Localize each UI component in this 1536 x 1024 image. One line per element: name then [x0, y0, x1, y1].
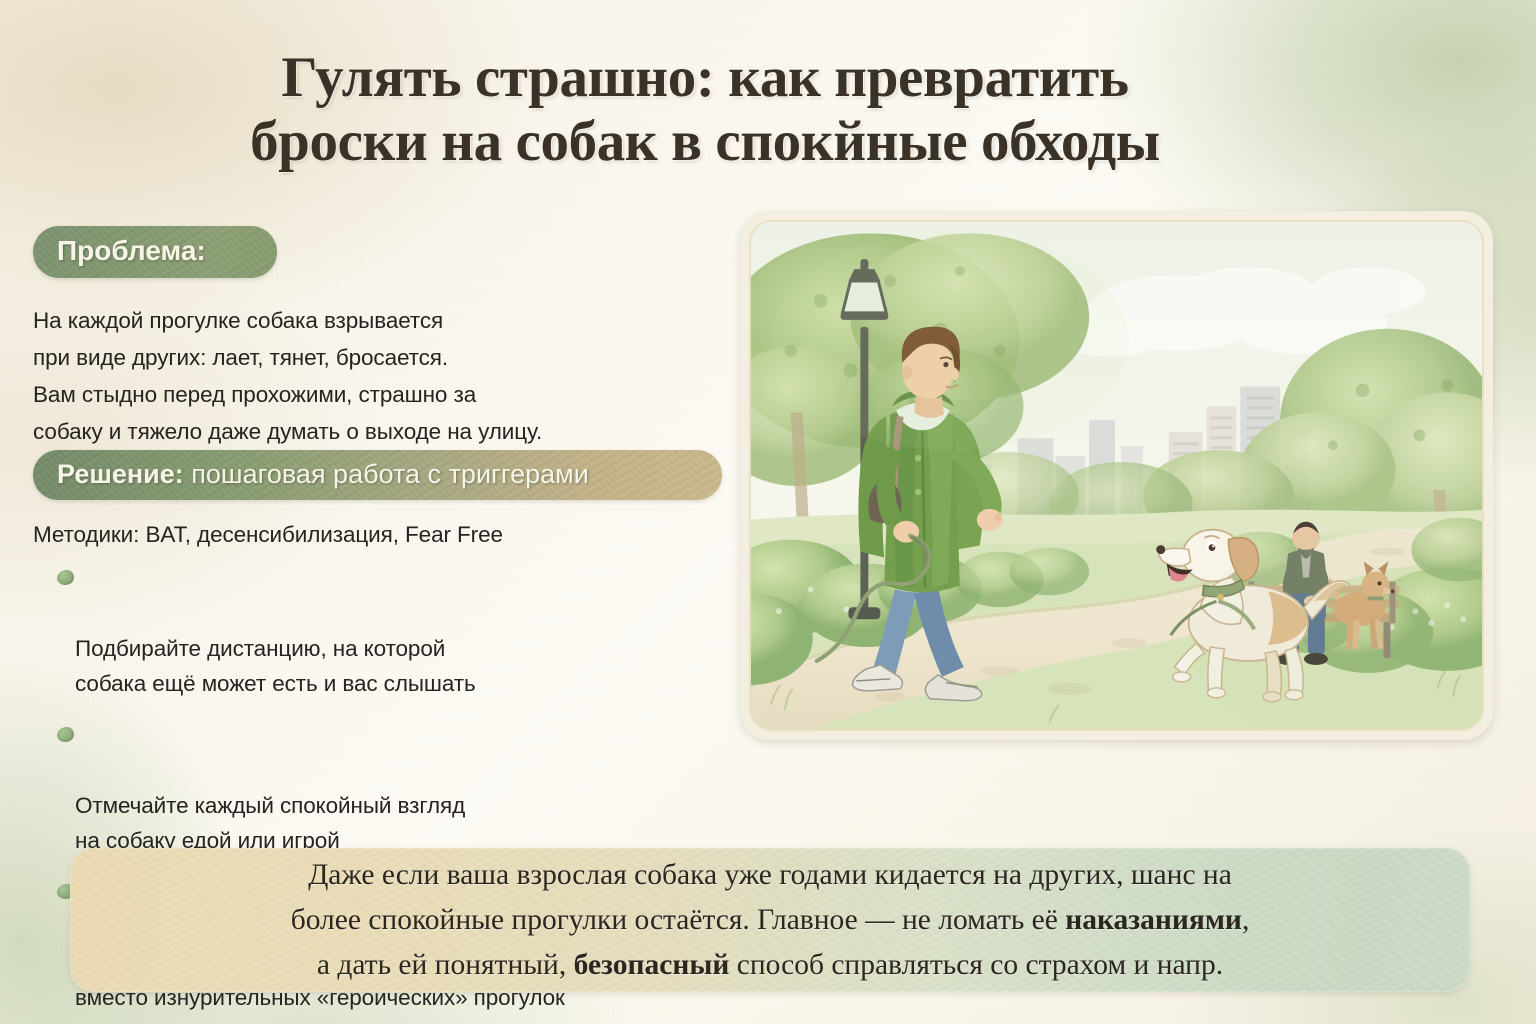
- footer-run: способ справляться со страхом и напр.: [729, 949, 1223, 981]
- problem-badge: Проблема:: [33, 226, 277, 278]
- park-scene-illustration: [749, 220, 1484, 731]
- solution-badge: Решение: пошаговая работа с триггерами: [33, 450, 722, 500]
- solution-badge-rest: пошаговая работа с триггерами: [184, 459, 589, 489]
- bullet-dot-icon: [57, 570, 74, 585]
- problem-badge-label: Проблема:: [57, 235, 206, 266]
- methods-line: Методики: BAT, десенсибилизация, Fear Fr…: [33, 519, 733, 551]
- park-scene-svg: [751, 222, 1482, 729]
- bullet-dot-icon: [57, 727, 74, 742]
- footer-emphasis: безопасный: [574, 949, 730, 981]
- list-item-text: Отмечайте каждый спокойный взгляд на соб…: [75, 793, 465, 853]
- footer-emphasis: наказаниями: [1065, 904, 1242, 936]
- solution-badge-lead: Решение:: [57, 459, 184, 489]
- list-item: Подбирайте дистанцию, на которой собака …: [33, 561, 733, 701]
- footer-callout-box: Даже если ваша взрослая собака уже годам…: [70, 848, 1470, 992]
- page-title: Гулять страшно: как превратить броски на…: [70, 46, 1340, 174]
- footer-text: Даже если ваша взрослая собака уже годам…: [108, 853, 1433, 988]
- list-item: Отмечайте каждый спокойный взгляд на соб…: [33, 718, 733, 858]
- illustration-frame: [740, 211, 1493, 740]
- infographic-page: Гулять страшно: как превратить броски на…: [0, 0, 1536, 1024]
- problem-description: На каждой прогулке собака взрывается при…: [33, 302, 733, 450]
- list-item-text: Подбирайте дистанцию, на которой собака …: [75, 636, 476, 696]
